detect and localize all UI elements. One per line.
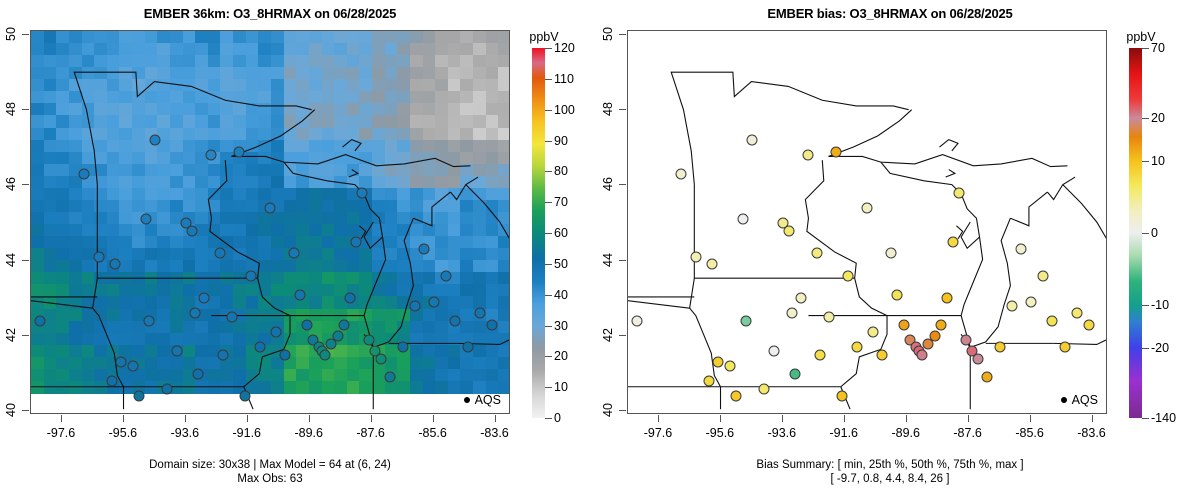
station-marker [397, 342, 408, 353]
x-tick [782, 415, 783, 422]
station-marker [852, 342, 863, 353]
x-tick [61, 415, 62, 422]
map-border [946, 170, 955, 177]
station-marker [193, 368, 204, 379]
x-tick-label: -93.6 [171, 426, 200, 440]
x-tick-label: -85.6 [418, 426, 447, 440]
panel-bias-title: EMBER bias: O3_8HRMAX on 06/28/2025 [620, 6, 1160, 21]
station-marker [351, 236, 362, 247]
colorbar-tick [545, 48, 552, 49]
map-border [855, 278, 887, 315]
colorbar-tick-label: 90 [554, 134, 568, 148]
station-marker [691, 251, 702, 262]
map-border [628, 301, 690, 308]
station-marker [128, 361, 139, 372]
station-marker [187, 225, 198, 236]
colorbar-tick [1142, 418, 1149, 419]
map-border [939, 140, 958, 151]
y-tick [22, 410, 29, 411]
x-tick [720, 415, 721, 422]
model-caption: Domain size: 30x38 | Max Model = 64 at (… [0, 458, 540, 486]
panel-model: EMBER 36km: O3_8HRMAX on 06/28/2025 AQS … [0, 0, 600, 502]
x-tick-label: -93.6 [768, 426, 797, 440]
station-marker [830, 146, 841, 157]
x-tick [247, 415, 248, 422]
y-tick-label: 48 [4, 102, 18, 116]
map-border [450, 177, 478, 199]
station-marker [462, 342, 473, 353]
station-marker [35, 315, 46, 326]
station-marker [948, 236, 959, 247]
x-tick [1092, 415, 1093, 422]
colorbar-tick [545, 79, 552, 80]
station-marker [143, 315, 154, 326]
bias-aqs-legend: AQS [1061, 393, 1098, 407]
colorbar-tick-label: 80 [554, 164, 568, 178]
station-marker [982, 372, 993, 383]
colorbar-tick [1142, 348, 1149, 349]
station-marker [264, 202, 275, 213]
map-border [671, 72, 908, 184]
station-marker [218, 349, 229, 360]
station-marker [106, 376, 117, 387]
y-tick-label: 46 [601, 177, 615, 191]
y-tick [22, 184, 29, 185]
panel-model-title: EMBER 36km: O3_8HRMAX on 06/28/2025 [0, 6, 540, 21]
station-marker [270, 327, 281, 338]
map-border [828, 155, 1067, 167]
colorbar-tick-label: 40 [554, 288, 568, 302]
station-marker [255, 342, 266, 353]
station-marker [1084, 319, 1095, 330]
bias-aqs-legend-label: AQS [1072, 393, 1098, 407]
station-marker [768, 346, 779, 357]
colorbar-tick [1142, 305, 1149, 306]
x-tick [1030, 415, 1031, 422]
station-marker [301, 319, 312, 330]
station-marker [811, 248, 822, 259]
y-tick-label: 46 [4, 177, 18, 191]
bias-caption-line2: [ -9.7, 0.8, 4.4, 8.4, 26 ] [620, 472, 1160, 486]
station-marker [836, 391, 847, 402]
y-tick-label: 50 [601, 27, 615, 41]
model-aqs-legend: AQS [464, 393, 501, 407]
map-border [284, 162, 383, 248]
station-marker [737, 214, 748, 225]
station-marker [1072, 308, 1083, 319]
station-marker [712, 357, 723, 368]
station-marker [279, 349, 290, 360]
station-marker [802, 150, 813, 161]
station-marker [428, 297, 439, 308]
colorbar-tick [545, 202, 552, 203]
station-marker [746, 135, 757, 146]
map-border [208, 160, 259, 278]
colorbar-tick-label: 0 [1151, 226, 1158, 240]
x-tick-label: -87.6 [953, 426, 982, 440]
map-border [413, 192, 450, 226]
station-marker [759, 383, 770, 394]
colorbar-tick-label: 10 [554, 380, 568, 394]
map-border [466, 185, 509, 312]
station-marker [171, 346, 182, 357]
colorbar-tick [545, 141, 552, 142]
station-marker [706, 259, 717, 270]
station-marker [475, 308, 486, 319]
colorbar-tick-label: -10 [1151, 298, 1169, 312]
station-marker [867, 327, 878, 338]
bias-colorbar-gradient [1129, 48, 1142, 418]
station-marker [320, 349, 331, 360]
station-marker [239, 391, 250, 402]
aqs-dot-icon [1061, 397, 1067, 403]
station-marker [109, 259, 120, 270]
map-border [881, 162, 980, 248]
map-border [805, 160, 856, 278]
map-border [93, 278, 124, 387]
colorbar-tick [545, 171, 552, 172]
y-tick [22, 109, 29, 110]
x-tick [968, 415, 969, 422]
station-marker [162, 383, 173, 394]
y-tick-label: 44 [4, 253, 18, 267]
station-marker [289, 248, 300, 259]
colorbar-tick [1142, 118, 1149, 119]
station-marker [385, 372, 396, 383]
colorbar-tick-label: 60 [554, 226, 568, 240]
map-border [961, 218, 1010, 347]
station-marker [487, 319, 498, 330]
aqs-dot-icon [464, 397, 470, 403]
station-marker [929, 330, 940, 341]
colorbar-tick [545, 295, 552, 296]
map-border [231, 110, 314, 157]
y-tick [22, 335, 29, 336]
map-border [1063, 185, 1106, 312]
map-border [31, 301, 93, 308]
station-marker [227, 312, 238, 323]
x-tick-label: -97.6 [644, 426, 673, 440]
y-tick-label: 40 [4, 403, 18, 417]
x-tick-label: -87.6 [356, 426, 385, 440]
colorbar-tick-label: 20 [1151, 111, 1165, 125]
x-tick-label: -83.6 [1077, 426, 1106, 440]
station-marker [190, 308, 201, 319]
station-marker [1038, 270, 1049, 281]
x-tick [309, 415, 310, 422]
colorbar-tick-label: 50 [554, 257, 568, 271]
station-marker [115, 357, 126, 368]
bias-caption-line1: Bias Summary: [ min, 25th %, 50th %, 75t… [620, 458, 1160, 472]
x-tick [123, 415, 124, 422]
y-tick [619, 34, 626, 35]
colorbar-tick-label: 0 [554, 411, 561, 425]
station-marker [787, 308, 798, 319]
station-marker [815, 349, 826, 360]
station-marker [994, 342, 1005, 353]
station-marker [972, 353, 983, 364]
y-tick [619, 109, 626, 110]
y-tick-label: 44 [601, 253, 615, 267]
colorbar-tick-label: 120 [554, 41, 575, 55]
x-tick [906, 415, 907, 422]
x-tick-label: -85.6 [1015, 426, 1044, 440]
station-marker [886, 248, 897, 259]
station-marker [363, 334, 374, 345]
station-marker [703, 376, 714, 387]
colorbar-tick [545, 418, 552, 419]
station-marker [450, 315, 461, 326]
x-tick-label: -97.6 [47, 426, 76, 440]
station-marker [1047, 315, 1058, 326]
station-marker [790, 368, 801, 379]
x-tick-label: -95.6 [706, 426, 735, 440]
model-colorbar: ppbV 0102030405060708090100110120 [520, 30, 610, 430]
colorbar-tick [1142, 233, 1149, 234]
map-border [961, 237, 983, 316]
bias-colorbar: ppbV 7020100-10-20-140 [1117, 30, 1200, 430]
station-marker [942, 293, 953, 304]
station-marker [94, 251, 105, 262]
station-marker [375, 353, 386, 364]
station-marker [824, 312, 835, 323]
map-border [74, 72, 311, 184]
colorbar-tick-label: 100 [554, 103, 575, 117]
colorbar-tick [1142, 48, 1149, 49]
colorbar-tick-label: 20 [554, 349, 568, 363]
colorbar-tick [545, 110, 552, 111]
x-tick-label: -91.6 [233, 426, 262, 440]
x-tick-label: -95.6 [109, 426, 138, 440]
station-marker [357, 187, 368, 198]
colorbar-tick [545, 233, 552, 234]
map-border [258, 278, 290, 315]
y-tick [619, 335, 626, 336]
station-marker [632, 315, 643, 326]
x-tick-label: -89.6 [294, 426, 323, 440]
y-tick [619, 410, 626, 411]
x-tick-label: -83.6 [480, 426, 509, 440]
x-tick [185, 415, 186, 422]
station-marker [345, 293, 356, 304]
model-caption-line1: Domain size: 30x38 | Max Model = 64 at (… [0, 458, 540, 472]
model-caption-line2: Max Obs: 63 [0, 472, 540, 486]
station-marker [784, 225, 795, 236]
bias-map-outlines [628, 31, 1106, 413]
station-marker [233, 146, 244, 157]
station-marker [842, 270, 853, 281]
station-marker [134, 391, 145, 402]
station-marker [725, 361, 736, 372]
colorbar-tick-label: 70 [1151, 41, 1165, 55]
x-tick-label: -89.6 [891, 426, 920, 440]
colorbar-tick-label: 70 [554, 195, 568, 209]
station-marker [892, 289, 903, 300]
station-marker [960, 334, 971, 345]
y-tick-label: 42 [601, 328, 615, 342]
colorbar-tick [545, 356, 552, 357]
model-aqs-legend-label: AQS [475, 393, 501, 407]
station-marker [861, 202, 872, 213]
model-colorbar-gradient [532, 48, 545, 418]
station-marker [78, 169, 89, 180]
colorbar-tick-label: 10 [1151, 154, 1165, 168]
x-tick [371, 415, 372, 422]
station-marker [1059, 342, 1070, 353]
station-marker [796, 293, 807, 304]
colorbar-tick [545, 387, 552, 388]
station-marker [214, 248, 225, 259]
station-marker [740, 315, 751, 326]
bias-map-plot: AQS [627, 30, 1107, 414]
station-marker [898, 319, 909, 330]
y-tick-label: 40 [601, 403, 615, 417]
station-marker [876, 349, 887, 360]
y-tick [619, 184, 626, 185]
bias-caption: Bias Summary: [ min, 25th %, 50th %, 75t… [620, 458, 1160, 486]
model-map-plot: AQS [30, 30, 510, 414]
map-border [690, 278, 721, 387]
colorbar-tick [545, 264, 552, 265]
station-marker [954, 187, 965, 198]
station-marker [441, 270, 452, 281]
station-marker [245, 270, 256, 281]
y-tick-label: 48 [601, 102, 615, 116]
station-marker [917, 349, 928, 360]
station-marker [935, 319, 946, 330]
y-tick [22, 34, 29, 35]
map-border [364, 218, 413, 347]
station-marker [332, 330, 343, 341]
station-marker [205, 150, 216, 161]
y-tick [22, 260, 29, 261]
colorbar-tick-label: -140 [1151, 411, 1176, 425]
colorbar-tick [1142, 161, 1149, 162]
station-marker [419, 244, 430, 255]
model-map-outlines [31, 31, 509, 413]
x-tick [658, 415, 659, 422]
colorbar-tick-label: -20 [1151, 341, 1169, 355]
station-marker [338, 319, 349, 330]
station-marker [731, 391, 742, 402]
y-tick-label: 50 [4, 27, 18, 41]
station-marker [1025, 297, 1036, 308]
station-marker [295, 289, 306, 300]
x-tick [495, 415, 496, 422]
station-marker [1007, 300, 1018, 311]
map-border [349, 170, 358, 177]
colorbar-tick-label: 30 [554, 319, 568, 333]
station-marker [199, 293, 210, 304]
map-border [231, 155, 470, 167]
x-tick [433, 415, 434, 422]
map-border [828, 110, 911, 157]
x-tick-label: -91.6 [830, 426, 859, 440]
panel-bias: EMBER bias: O3_8HRMAX on 06/28/2025 AQS … [600, 0, 1200, 502]
map-border [1047, 177, 1075, 199]
station-marker [410, 300, 421, 311]
station-marker [1016, 244, 1027, 255]
station-marker [149, 135, 160, 146]
colorbar-tick [545, 326, 552, 327]
y-tick [619, 260, 626, 261]
figure-root: EMBER 36km: O3_8HRMAX on 06/28/2025 AQS … [0, 0, 1200, 502]
y-tick-label: 42 [4, 328, 18, 342]
x-tick [844, 415, 845, 422]
map-border [364, 237, 386, 316]
map-border [342, 140, 361, 151]
colorbar-tick-label: 110 [554, 72, 574, 86]
station-marker [140, 214, 151, 225]
station-marker [675, 169, 686, 180]
map-border [1010, 192, 1047, 226]
